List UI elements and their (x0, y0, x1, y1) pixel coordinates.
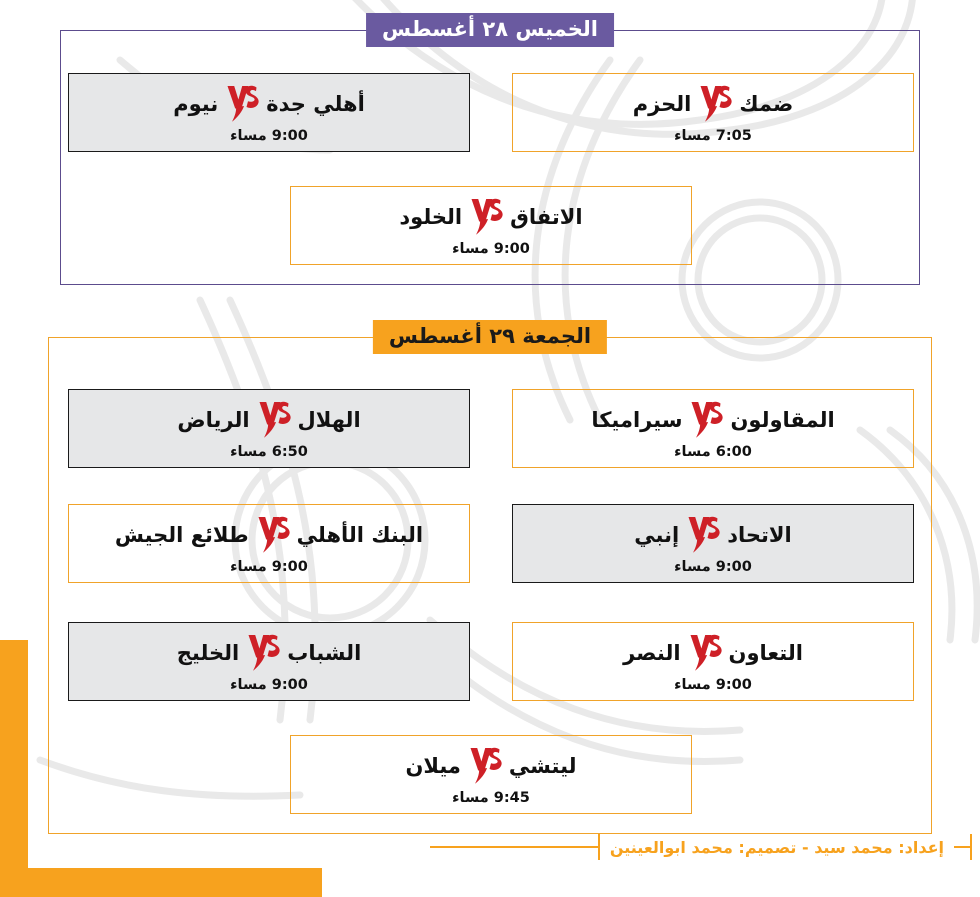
day-section-thursday: الخميس ٢٨ أغسطس أهلي جدة نيوم 9:00 مساء … (60, 30, 920, 285)
footer-credit-bar: إعداد: محمد سيد - تصميم: محمد ابوالعينين (0, 825, 980, 869)
home-team-name: الهلال (298, 410, 361, 431)
match-card[interactable]: التعاون النصر 9:00 مساء (512, 622, 914, 701)
teams-row: البنك الأهلي طلائع الجيش (69, 514, 469, 556)
match-time: 6:00 مساء (674, 444, 752, 460)
match-time: 9:00 مساء (674, 559, 752, 575)
vs-icon (686, 515, 720, 555)
home-team-name: أهلي جدة (266, 94, 365, 115)
away-team-name: الرياض (177, 410, 249, 431)
vs-icon (698, 84, 732, 124)
away-team-name: ميلان (405, 756, 460, 777)
away-team-name: سيراميكا (591, 410, 682, 431)
vs-icon (689, 400, 723, 440)
credit-divider-right (970, 834, 972, 860)
teams-row: ليتشي ميلان (291, 745, 691, 787)
teams-row: التعاون النصر (513, 632, 913, 674)
away-team-name: الحزم (633, 94, 692, 115)
teams-row: الاتحاد إنبي (513, 514, 913, 556)
home-team-name: البنك الأهلي (297, 525, 423, 546)
away-team-name: الخلود (399, 207, 462, 228)
away-team-name: النصر (623, 643, 680, 664)
home-team-name: الاتفاق (510, 207, 583, 228)
match-time: 7:05 مساء (674, 128, 752, 144)
match-time: 9:00 مساء (230, 128, 308, 144)
away-team-name: إنبي (634, 525, 679, 546)
match-card[interactable]: الاتحاد إنبي 9:00 مساء (512, 504, 914, 583)
match-card[interactable]: المقاولون سيراميكا 6:00 مساء (512, 389, 914, 468)
match-card[interactable]: أهلي جدة نيوم 9:00 مساء (68, 73, 470, 152)
day-header-thursday: الخميس ٢٨ أغسطس (366, 13, 614, 47)
match-time: 9:00 مساء (452, 241, 530, 257)
teams-row: أهلي جدة نيوم (69, 83, 469, 125)
credit-text: إعداد: محمد سيد - تصميم: محمد ابوالعينين (600, 838, 954, 857)
vs-icon (257, 400, 291, 440)
match-time: 6:50 مساء (230, 444, 308, 460)
day-header-friday: الجمعة ٢٩ أغسطس (373, 320, 607, 354)
teams-row: الهلال الرياض (69, 399, 469, 441)
teams-row: المقاولون سيراميكا (513, 399, 913, 441)
match-time: 9:00 مساء (674, 677, 752, 693)
home-team-name: ليتشي (509, 756, 577, 777)
vs-icon (468, 746, 502, 786)
credit-rule-short (954, 846, 970, 848)
home-team-name: المقاولون (730, 410, 834, 431)
teams-row: ضمك الحزم (513, 83, 913, 125)
match-card[interactable]: ضمك الحزم 7:05 مساء (512, 73, 914, 152)
vs-icon (688, 633, 722, 673)
match-time: 9:00 مساء (230, 677, 308, 693)
match-card[interactable]: البنك الأهلي طلائع الجيش 9:00 مساء (68, 504, 470, 583)
away-team-name: طلائع الجيش (115, 525, 249, 546)
vs-icon (246, 633, 280, 673)
vs-icon (256, 515, 290, 555)
match-card[interactable]: الهلال الرياض 6:50 مساء (68, 389, 470, 468)
credit-rule-long (430, 846, 598, 848)
match-time: 9:00 مساء (230, 559, 308, 575)
schedule-page: الخميس ٢٨ أغسطس أهلي جدة نيوم 9:00 مساء … (0, 0, 980, 897)
away-team-name: نيوم (173, 94, 218, 115)
day-section-friday: الجمعة ٢٩ أغسطس الهلال الرياض 6:50 مساء … (48, 337, 932, 834)
match-card[interactable]: ليتشي ميلان 9:45 مساء (290, 735, 692, 814)
match-time: 9:45 مساء (452, 790, 530, 806)
home-team-name: الاتحاد (727, 525, 792, 546)
teams-row: الاتفاق الخلود (291, 196, 691, 238)
match-card[interactable]: الشباب الخليج 9:00 مساء (68, 622, 470, 701)
home-team-name: الشباب (287, 643, 361, 664)
teams-row: الشباب الخليج (69, 632, 469, 674)
home-team-name: التعاون (729, 643, 803, 664)
away-team-name: الخليج (177, 643, 240, 664)
match-card[interactable]: الاتفاق الخلود 9:00 مساء (290, 186, 692, 265)
vs-icon (225, 84, 259, 124)
credit-divider-left (598, 834, 600, 860)
home-team-name: ضمك (739, 94, 793, 115)
vs-icon (469, 197, 503, 237)
